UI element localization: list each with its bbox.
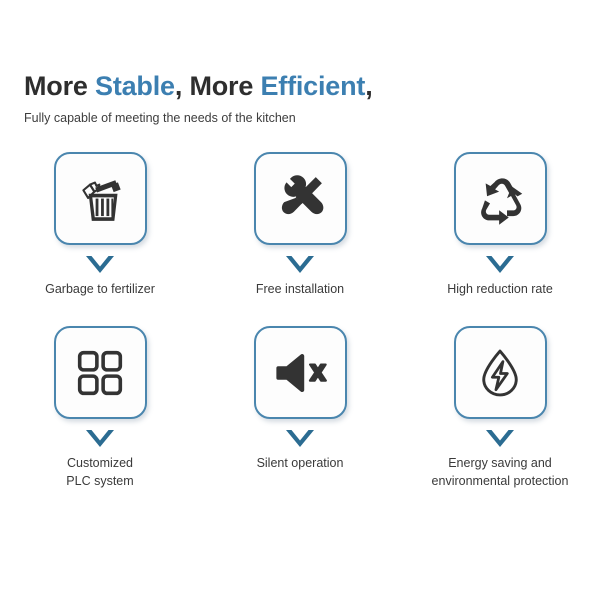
feature-grid: Garbage to fertilizer Free installation: [0, 152, 600, 490]
chevron-down-icon: [85, 254, 115, 274]
feature-label: High reduction rate: [447, 280, 553, 298]
grid-squares-icon: [75, 348, 125, 398]
feature-item-energy-saving: Energy saving and environmental protecti…: [400, 326, 600, 490]
feature-label: Silent operation: [257, 454, 344, 472]
title-segment-3: ,: [365, 71, 372, 101]
feature-icon-box: [54, 152, 147, 245]
feature-item-silent-operation: Silent operation: [200, 326, 400, 490]
chevron-down-icon: [485, 428, 515, 448]
title-segment-2: , More: [175, 71, 261, 101]
feature-item-high-reduction-rate: High reduction rate: [400, 152, 600, 298]
wrench-screwdriver-icon: [272, 171, 328, 227]
page-subtitle: Fully capable of meeting the needs of th…: [24, 111, 584, 126]
recycle-icon: [472, 171, 528, 227]
feature-label: Customized PLC system: [66, 454, 133, 490]
chevron-down-icon: [285, 254, 315, 274]
feature-item-garbage-to-fertilizer: Garbage to fertilizer: [0, 152, 200, 298]
chevron-down-icon: [85, 428, 115, 448]
feature-label: Garbage to fertilizer: [45, 280, 155, 298]
trash-bin-icon: [72, 171, 128, 227]
feature-icon-box: [454, 326, 547, 419]
header-block: More Stable, More Efficient, Fully capab…: [24, 72, 584, 126]
feature-icon-box: [454, 152, 547, 245]
feature-icon-box: [254, 326, 347, 419]
water-drop-bolt-icon: [474, 347, 526, 399]
feature-item-customized-plc-system: Customized PLC system: [0, 326, 200, 490]
feature-icon-box: [254, 152, 347, 245]
title-segment-1: More: [24, 71, 95, 101]
feature-label: Energy saving and environmental protecti…: [432, 454, 569, 490]
feature-item-free-installation: Free installation: [200, 152, 400, 298]
title-highlight-efficient: Efficient: [260, 71, 365, 101]
chevron-down-icon: [285, 428, 315, 448]
title-highlight-stable: Stable: [95, 71, 175, 101]
feature-label: Free installation: [256, 280, 344, 298]
chevron-down-icon: [485, 254, 515, 274]
feature-icon-box: [54, 326, 147, 419]
page-title: More Stable, More Efficient,: [24, 72, 584, 102]
speaker-mute-icon: [273, 346, 327, 400]
